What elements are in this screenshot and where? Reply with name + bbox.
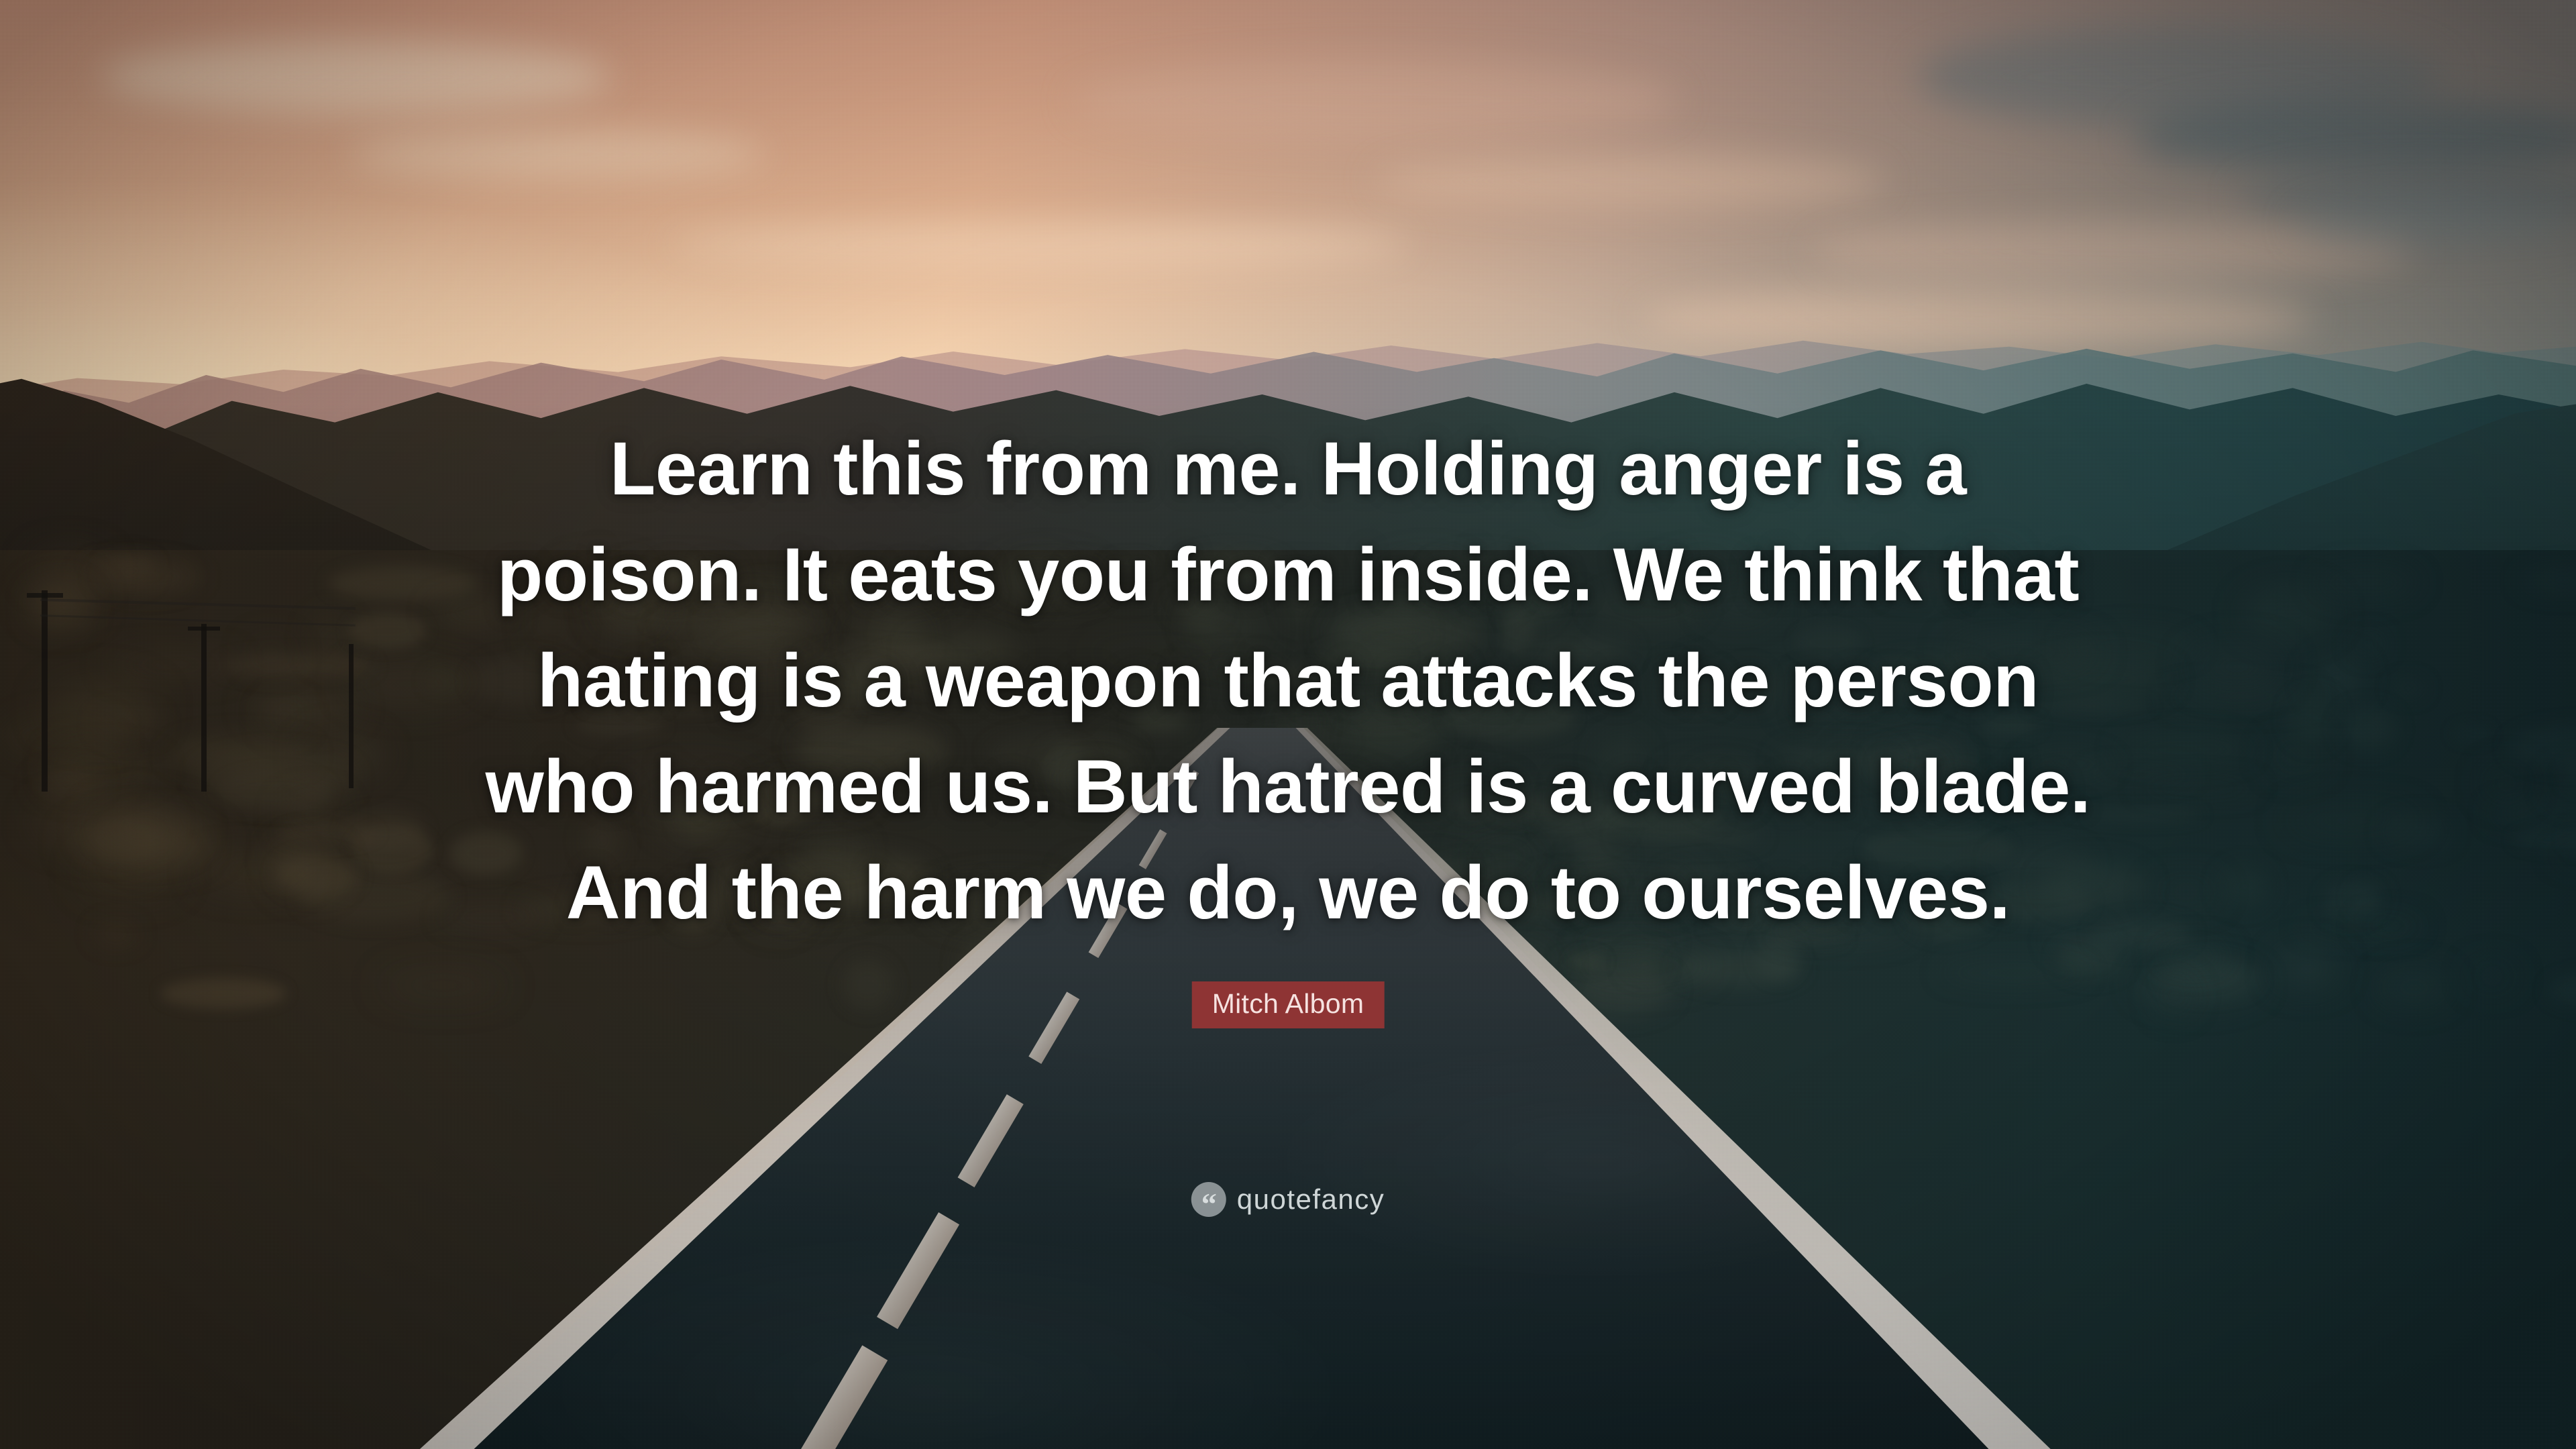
scrub-patch: [2241, 587, 2336, 639]
scrub-patch: [249, 693, 358, 722]
utility-pole-crossarm: [27, 593, 63, 598]
scrub-patch: [348, 612, 427, 649]
scrub-patch: [46, 682, 157, 735]
scrub-patch: [2310, 656, 2364, 700]
scrub-patch: [2508, 724, 2576, 769]
quote-line-1: Learn this from me. Holding anger is a: [449, 416, 2127, 522]
scrub-patch: [2341, 708, 2396, 749]
scrub-patch: [2392, 680, 2426, 696]
author-badge[interactable]: Mitch Albom: [1192, 981, 1385, 1028]
scrub-patch: [2159, 947, 2228, 964]
author-name: Mitch Albom: [1212, 988, 1364, 1019]
scrub-patch: [380, 973, 506, 998]
watermark-brand-text: quotefancy: [1237, 1183, 1385, 1216]
scrub-patch: [251, 646, 291, 661]
scrub-patch: [2355, 637, 2383, 653]
scrub-patch: [268, 704, 301, 731]
scrub-patch: [2297, 921, 2420, 934]
cloud-streak: [101, 40, 610, 114]
scrub-patch: [2377, 968, 2452, 1008]
scrub-patch: [2387, 820, 2449, 843]
scrub-patch: [2353, 883, 2384, 912]
quote-line-3: hating is a weapon that attacks the pers…: [449, 628, 2127, 734]
quote-line-5: And the harm we do, we do to ourselves.: [449, 840, 2127, 946]
scrub-patch: [2136, 780, 2259, 795]
scrub-patch: [2275, 950, 2339, 987]
scrub-patch: [2154, 885, 2218, 898]
cloud-streak: [1644, 288, 2314, 349]
scrub-patch: [106, 555, 153, 588]
quote-line-2: poison. It eats you from inside. We thin…: [449, 522, 2127, 628]
scrub-patch: [95, 923, 138, 945]
scrub-patch: [2190, 648, 2284, 685]
scrub-patch: [2548, 971, 2576, 1010]
cloud-streak: [671, 221, 1409, 268]
cloud-streak: [1073, 60, 1677, 141]
utility-pole-crossarm: [188, 627, 220, 631]
utility-pole: [42, 590, 48, 792]
scrub-patch: [2221, 867, 2268, 906]
cloud-streak: [1375, 154, 1885, 208]
cloud-streak: [349, 131, 765, 178]
scrub-patch: [218, 770, 331, 813]
utility-pole: [349, 644, 354, 788]
scrub-patch: [160, 978, 286, 1009]
scrub-patch: [2292, 695, 2333, 743]
cloud-streak: [2294, 201, 2576, 248]
scrub-patch: [278, 821, 380, 846]
utility-pole: [201, 624, 207, 792]
scrub-patch: [2483, 766, 2530, 800]
quote-line-4: who harmed us. But hatred is a curved bl…: [449, 734, 2127, 840]
scrub-patch: [1626, 951, 1663, 977]
scrub-patch: [1939, 962, 2090, 983]
quote-wallpaper: Learn this from me. Holding anger is a p…: [0, 0, 2576, 1449]
scrub-patch: [2167, 690, 2315, 704]
scrub-patch: [106, 659, 237, 671]
scrub-patch: [2490, 802, 2576, 824]
scrub-patch: [2267, 738, 2324, 773]
scrub-patch: [2471, 971, 2513, 982]
quotefancy-watermark[interactable]: “ quotefancy: [1191, 1182, 1385, 1217]
double-quote-icon: “: [1191, 1182, 1226, 1217]
scrub-patch: [279, 848, 335, 891]
scrub-patch: [2313, 566, 2420, 599]
cloud-streak: [2133, 101, 2576, 174]
scrub-patch: [2512, 826, 2576, 853]
scrub-patch: [842, 959, 894, 1011]
quote-text-block: Learn this from me. Holding anger is a p…: [449, 416, 2127, 946]
scrub-patch: [2155, 977, 2193, 1015]
double-quote-glyph: “: [1201, 1194, 1216, 1214]
scrub-patch: [2521, 570, 2576, 590]
scrub-patch: [91, 806, 194, 848]
scrub-patch: [2114, 732, 2253, 766]
scrub-patch: [2453, 727, 2491, 741]
